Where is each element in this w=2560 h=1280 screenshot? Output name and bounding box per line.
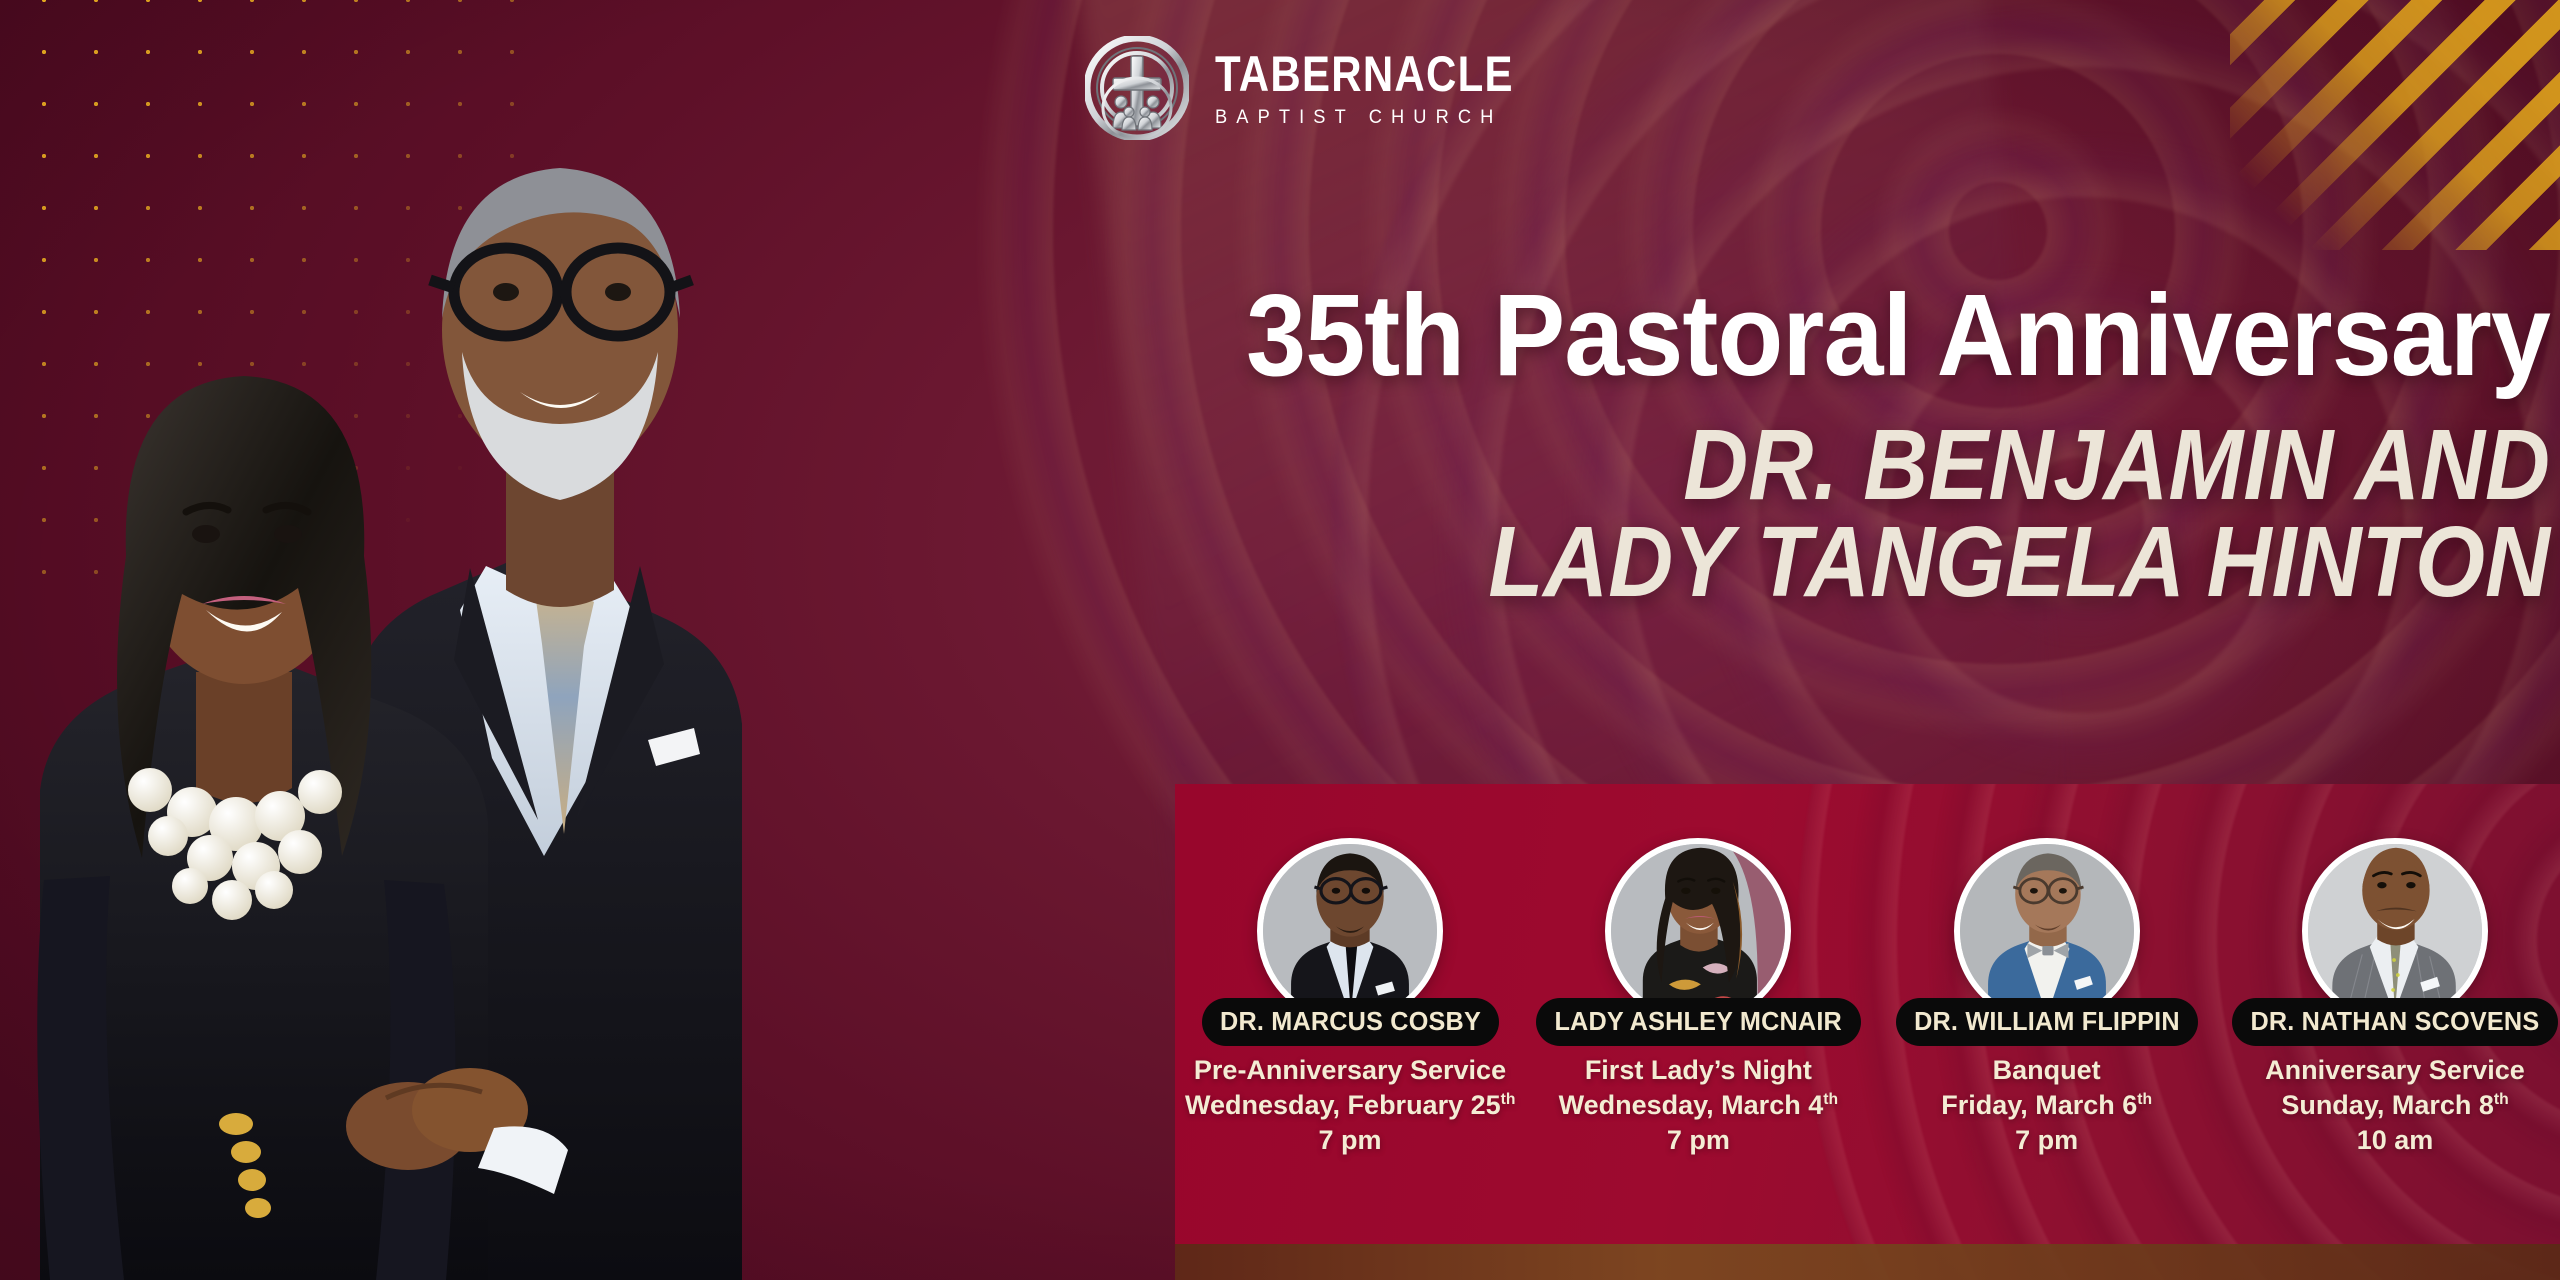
speaker-details: Anniversary Service Sunday, March 8th 10… — [2230, 1053, 2560, 1158]
speaker-date-ordinal: th — [2494, 1091, 2509, 1108]
speaker-date: Sunday, March 8th — [2230, 1088, 2560, 1123]
speaker-card: LADY ASHLEY MCNAIR First Lady’s Night We… — [1533, 838, 1863, 1158]
speaker-date-text: Wednesday, March 4 — [1559, 1090, 1824, 1120]
speaker-time: 7 pm — [1882, 1123, 2212, 1158]
speaker-portrait — [2302, 838, 2488, 1024]
speaker-name: DR. WILLIAM FLIPPIN — [1914, 1006, 2180, 1037]
bottom-brown-strip — [1175, 1244, 2560, 1280]
gold-diagonal-stripes — [2230, 0, 2560, 250]
honoree-name-line-2: LADY TANGELA HINTON — [1164, 514, 2550, 611]
speaker-card: DR. WILLIAM FLIPPIN Banquet Friday, Marc… — [1882, 838, 2212, 1158]
couple-photo — [0, 0, 790, 1280]
speaker-time: 7 pm — [1185, 1123, 1515, 1158]
speaker-portrait — [1954, 838, 2140, 1024]
speaker-name-pill: DR. NATHAN SCOVENS — [2232, 998, 2558, 1046]
speaker-date: Wednesday, March 4th — [1533, 1088, 1863, 1123]
speaker-event: First Lady’s Night — [1533, 1053, 1863, 1088]
speaker-name-pill: LADY ASHLEY MCNAIR — [1536, 998, 1860, 1046]
honoree-names: DR. BENJAMIN AND LADY TANGELA HINTON — [1164, 417, 2550, 611]
speaker-name-pill: DR. MARCUS COSBY — [1202, 998, 1499, 1046]
speaker-name: LADY ASHLEY MCNAIR — [1555, 1006, 1842, 1037]
church-cross-circle-emblem-icon — [1085, 36, 1189, 140]
speaker-card: DR. NATHAN SCOVENS Anniversary Service S… — [2230, 838, 2560, 1158]
speaker-portrait — [1605, 838, 1791, 1024]
speaker-time: 10 am — [2230, 1123, 2560, 1158]
speaker-details: Pre-Anniversary Service Wednesday, Febru… — [1185, 1053, 1515, 1158]
speaker-name: DR. MARCUS COSBY — [1220, 1006, 1481, 1037]
church-logo: TABERNACLE BAPTIST CHURCH — [1085, 36, 1571, 140]
speaker-details: Banquet Friday, March 6th 7 pm — [1882, 1053, 2212, 1158]
speaker-portrait — [1257, 838, 1443, 1024]
speaker-date: Friday, March 6th — [1882, 1088, 2212, 1123]
speaker-event: Anniversary Service — [2230, 1053, 2560, 1088]
church-subtitle: BAPTIST CHURCH — [1215, 108, 1557, 127]
speaker-date-text: Sunday, March 8 — [2281, 1090, 2494, 1120]
headline-block: 35th Pastoral Anniversary DR. BENJAMIN A… — [1010, 280, 2550, 611]
speaker-date: Wednesday, February 25th — [1185, 1088, 1515, 1123]
speaker-date-ordinal: th — [2137, 1091, 2152, 1108]
speaker-card: DR. MARCUS COSBY Pre-Anniversary Service… — [1185, 838, 1515, 1158]
speaker-name-pill: DR. WILLIAM FLIPPIN — [1896, 998, 2198, 1046]
anniversary-banner: TABERNACLE BAPTIST CHURCH 35th Pastoral … — [0, 0, 2560, 1280]
page-title: 35th Pastoral Anniversary — [1118, 280, 2550, 391]
speaker-date-ordinal: th — [1823, 1091, 1838, 1108]
speaker-event: Pre-Anniversary Service — [1185, 1053, 1515, 1088]
honoree-name-line-1: DR. BENJAMIN AND — [1164, 417, 2550, 514]
speaker-date-text: Wednesday, February 25 — [1185, 1090, 1501, 1120]
speaker-event: Banquet — [1882, 1053, 2212, 1088]
church-name: TABERNACLE — [1215, 49, 1514, 99]
speaker-time: 7 pm — [1533, 1123, 1863, 1158]
speaker-cards: DR. MARCUS COSBY Pre-Anniversary Service… — [1185, 838, 2560, 1158]
speaker-details: First Lady’s Night Wednesday, March 4th … — [1533, 1053, 1863, 1158]
speaker-date-text: Friday, March 6 — [1941, 1090, 2137, 1120]
speaker-name: DR. NATHAN SCOVENS — [2251, 1006, 2540, 1037]
speaker-date-ordinal: th — [1501, 1091, 1516, 1108]
